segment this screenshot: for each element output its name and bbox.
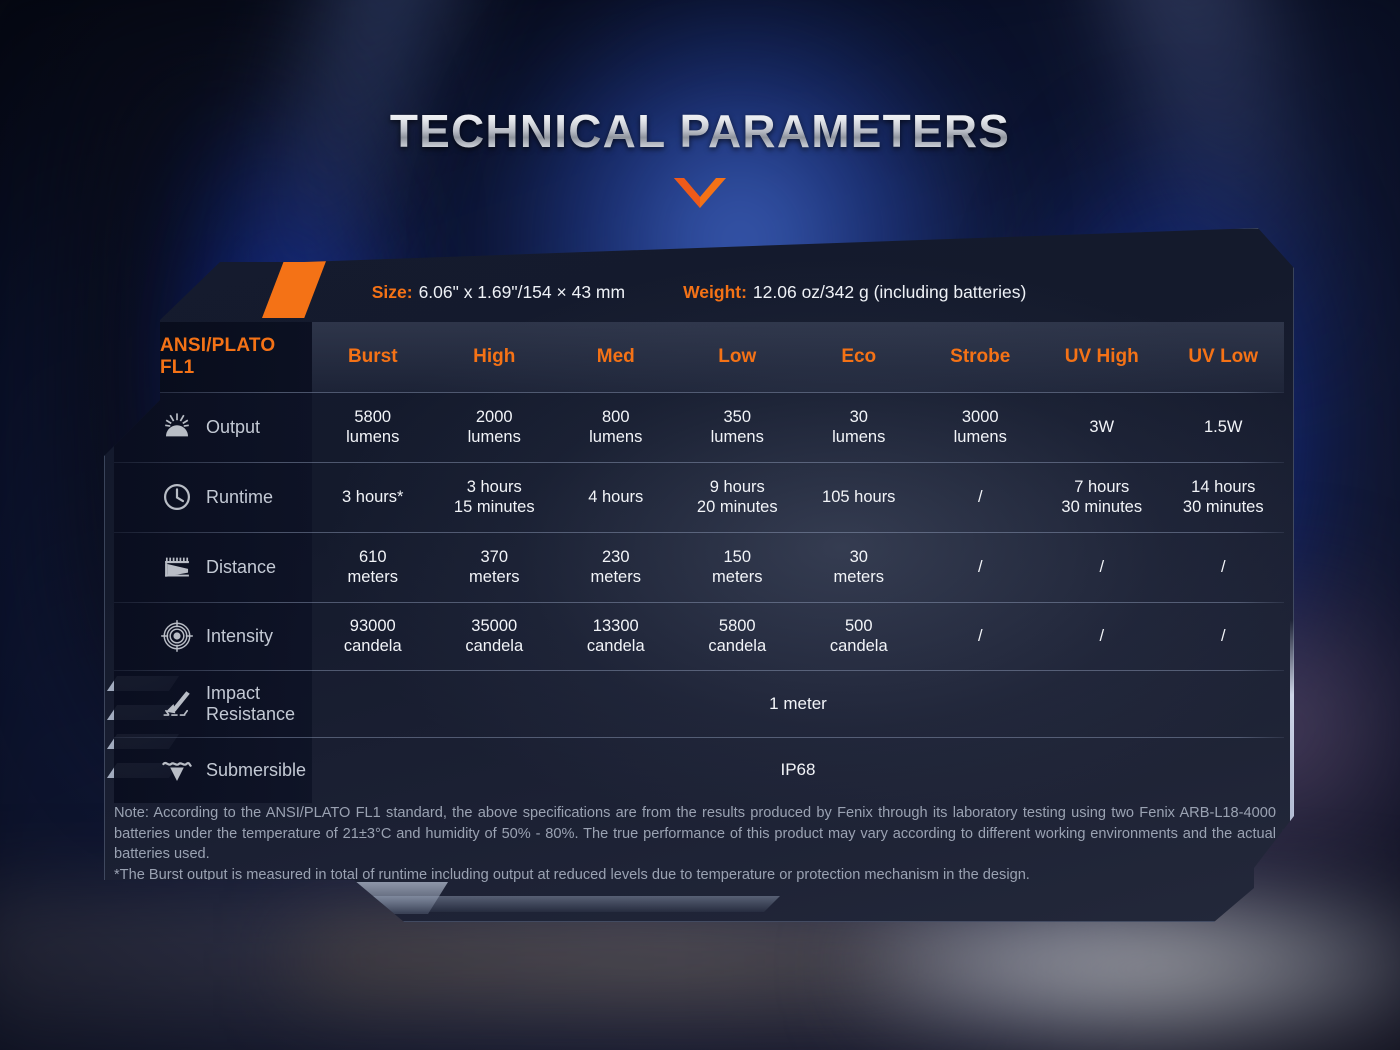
footnote-line-1: Note: According to the ANSI/PLATO FL1 st… bbox=[114, 803, 1276, 865]
runtime-uv-high: 7 hours30 minutes bbox=[1041, 462, 1163, 532]
intensity-med: 13300candela bbox=[555, 602, 677, 670]
row-label-runtime: Runtime bbox=[114, 462, 312, 532]
row-label-distance-text: Distance bbox=[206, 557, 276, 578]
runtime-eco: 105 hours bbox=[798, 462, 920, 532]
table-header-row: ANSI/PLATO FL1 Burst High Med Low Eco St… bbox=[114, 322, 1284, 392]
submersible-value: IP68 bbox=[312, 737, 1284, 803]
output-eco: 30lumens bbox=[798, 392, 920, 462]
runtime-strobe: / bbox=[920, 462, 1042, 532]
footnote-block: Note: According to the ANSI/PLATO FL1 st… bbox=[114, 803, 1276, 886]
row-label-submersible: Submersible bbox=[114, 737, 312, 803]
weight-value: 12.06 oz/342 g (including batteries) bbox=[753, 282, 1026, 302]
column-header-strobe: Strobe bbox=[920, 322, 1042, 392]
output-cells: 5800lumens 2000lumens 800lumens 350lumen… bbox=[312, 392, 1284, 462]
submersible-cells: IP68 bbox=[312, 737, 1284, 803]
specifications-table: ANSI/PLATO FL1 Burst High Med Low Eco St… bbox=[114, 322, 1284, 803]
row-label-intensity: Intensity bbox=[114, 602, 312, 670]
output-strobe: 3000lumens bbox=[920, 392, 1042, 462]
chevron-down-icon bbox=[672, 176, 728, 210]
distance-low: 150meters bbox=[677, 532, 799, 602]
distance-burst: 610meters bbox=[312, 532, 434, 602]
column-header-high: High bbox=[434, 322, 556, 392]
intensity-uv-low: / bbox=[1163, 602, 1285, 670]
weight-spec: Weight:12.06 oz/342 g (including batteri… bbox=[683, 282, 1026, 303]
table-row-submersible: Submersible IP68 bbox=[114, 737, 1284, 803]
sun-rays-icon bbox=[160, 410, 194, 444]
distance-uv-high: / bbox=[1041, 532, 1163, 602]
intensity-uv-high: / bbox=[1041, 602, 1163, 670]
distance-med: 230meters bbox=[555, 532, 677, 602]
intensity-cells: 93000candela 35000candela 13300candela 5… bbox=[312, 602, 1284, 670]
size-label: Size: bbox=[372, 282, 413, 302]
header-cells: Burst High Med Low Eco Strobe UV High UV… bbox=[312, 322, 1284, 392]
distance-cells: 610meters 370meters 230meters 150meters … bbox=[312, 532, 1284, 602]
page-title: TECHNICAL PARAMETERS bbox=[390, 104, 1010, 158]
runtime-high: 3 hours15 minutes bbox=[434, 462, 556, 532]
column-header-burst: Burst bbox=[312, 322, 434, 392]
standard-label: ANSI/PLATO FL1 bbox=[160, 335, 312, 379]
intensity-eco: 500candela bbox=[798, 602, 920, 670]
target-intensity-icon bbox=[160, 619, 194, 653]
row-label-submersible-text: Submersible bbox=[206, 760, 306, 781]
intensity-low: 5800candela bbox=[677, 602, 799, 670]
impact-resistance-cells: 1 meter bbox=[312, 670, 1284, 737]
output-low: 350lumens bbox=[677, 392, 799, 462]
row-label-intensity-text: Intensity bbox=[206, 626, 273, 647]
clock-icon bbox=[160, 480, 194, 514]
size-spec: Size:6.06" x 1.69"/154 × 43 mm bbox=[372, 282, 625, 303]
column-header-med: Med bbox=[555, 322, 677, 392]
distance-uv-low: / bbox=[1163, 532, 1285, 602]
intensity-burst: 93000candela bbox=[312, 602, 434, 670]
row-label-output-text: Output bbox=[206, 417, 260, 438]
table-row-impact-resistance: ImpactResistance 1 meter bbox=[114, 670, 1284, 737]
column-header-low: Low bbox=[677, 322, 799, 392]
table-row-output: Output 5800lumens 2000lumens 800lumens 3… bbox=[114, 392, 1284, 462]
page-title-container: TECHNICAL PARAMETERS bbox=[0, 104, 1400, 158]
output-uv-high: 3W bbox=[1041, 392, 1163, 462]
column-header-eco: Eco bbox=[798, 322, 920, 392]
row-label-runtime-text: Runtime bbox=[206, 487, 273, 508]
distance-strobe: / bbox=[920, 532, 1042, 602]
row-label-impact-resistance: ImpactResistance bbox=[114, 670, 312, 737]
weight-label: Weight: bbox=[683, 282, 747, 302]
impact-arrow-icon bbox=[160, 687, 194, 721]
table-row-distance: Distance 610meters 370meters 230meters 1… bbox=[114, 532, 1284, 602]
runtime-low: 9 hours20 minutes bbox=[677, 462, 799, 532]
row-label-impact-resistance-text: ImpactResistance bbox=[206, 683, 295, 725]
column-header-uv-low: UV Low bbox=[1163, 322, 1285, 392]
output-med: 800lumens bbox=[555, 392, 677, 462]
size-weight-row: Size:6.06" x 1.69"/154 × 43 mm Weight:12… bbox=[104, 262, 1294, 322]
output-uv-low: 1.5W bbox=[1163, 392, 1285, 462]
runtime-burst: 3 hours* bbox=[312, 462, 434, 532]
distance-eco: 30meters bbox=[798, 532, 920, 602]
runtime-cells: 3 hours* 3 hours15 minutes 4 hours 9 hou… bbox=[312, 462, 1284, 532]
runtime-uv-low: 14 hours30 minutes bbox=[1163, 462, 1285, 532]
distance-high: 370meters bbox=[434, 532, 556, 602]
specifications-panel: Size:6.06" x 1.69"/154 × 43 mm Weight:12… bbox=[104, 228, 1294, 922]
output-burst: 5800lumens bbox=[312, 392, 434, 462]
table-row-intensity: Intensity 93000candela 35000candela 1330… bbox=[114, 602, 1284, 670]
beam-distance-icon bbox=[160, 550, 194, 584]
runtime-med: 4 hours bbox=[555, 462, 677, 532]
row-label-distance: Distance bbox=[114, 532, 312, 602]
intensity-high: 35000candela bbox=[434, 602, 556, 670]
intensity-strobe: / bbox=[920, 602, 1042, 670]
size-value: 6.06" x 1.69"/154 × 43 mm bbox=[419, 282, 626, 302]
submersible-icon bbox=[160, 753, 194, 787]
table-row-runtime: Runtime 3 hours* 3 hours15 minutes 4 hou… bbox=[114, 462, 1284, 532]
impact-resistance-value: 1 meter bbox=[312, 670, 1284, 737]
column-header-uv-high: UV High bbox=[1041, 322, 1163, 392]
output-high: 2000lumens bbox=[434, 392, 556, 462]
